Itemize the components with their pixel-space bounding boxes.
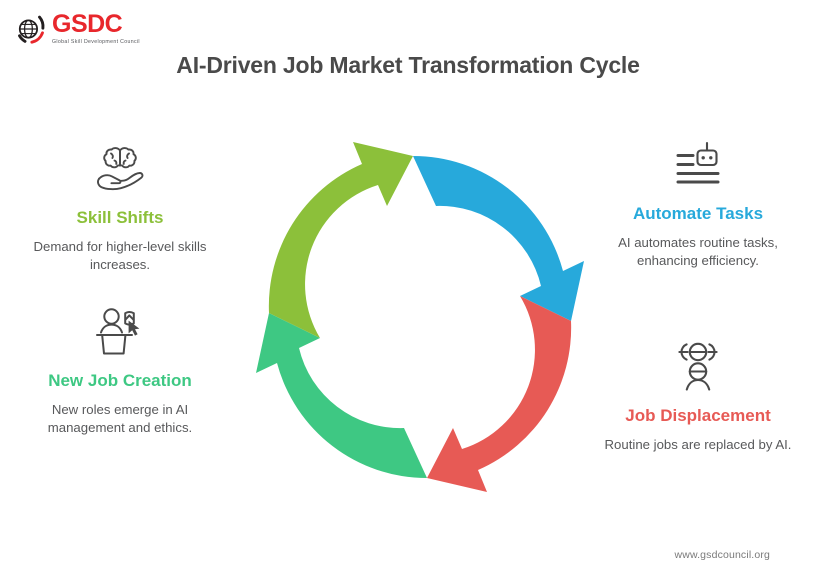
brain-in-hand-icon [22,140,218,196]
robot-head-lines-icon [600,136,796,192]
brand-name: GSDC [52,12,140,37]
footer-url: www.gsdcouncil.org [675,549,771,561]
globe-arc-icon [14,12,48,46]
block-body: New roles emerge in AI management and et… [22,401,218,438]
block-heading: Automate Tasks [600,203,796,225]
brand-tagline: Global Skill Development Council [52,40,140,45]
block-heading: New Job Creation [22,370,218,392]
cycle-segment-new-job [256,313,427,478]
people-group-icon [600,338,796,394]
block-body: Demand for higher-level skills increases… [22,238,218,275]
info-block-new-job-creation: New Job Creation New roles emerge in AI … [22,303,218,438]
brand-logo: GSDC Global Skill Development Council [14,12,140,46]
page-title: AI-Driven Job Market Transformation Cycl… [0,52,816,79]
person-podium-cursor-icon [22,303,218,359]
info-block-job-displacement: Job Displacement Routine jobs are replac… [600,338,796,454]
block-heading: Skill Shifts [22,207,218,229]
info-block-automate-tasks: Automate Tasks AI automates routine task… [600,136,796,271]
block-body: Routine jobs are replaced by AI. [600,436,796,455]
cycle-segment-automate [413,156,584,321]
block-heading: Job Displacement [600,405,796,427]
cycle-segment-skill-shifts [269,142,413,338]
infographic-page: GSDC Global Skill Development Council AI… [0,0,816,576]
cycle-diagram [232,130,594,502]
cycle-segment-displacement [427,296,571,492]
info-block-skill-shifts: Skill Shifts Demand for higher-level ski… [22,140,218,275]
block-body: AI automates routine tasks, enhancing ef… [600,234,796,271]
